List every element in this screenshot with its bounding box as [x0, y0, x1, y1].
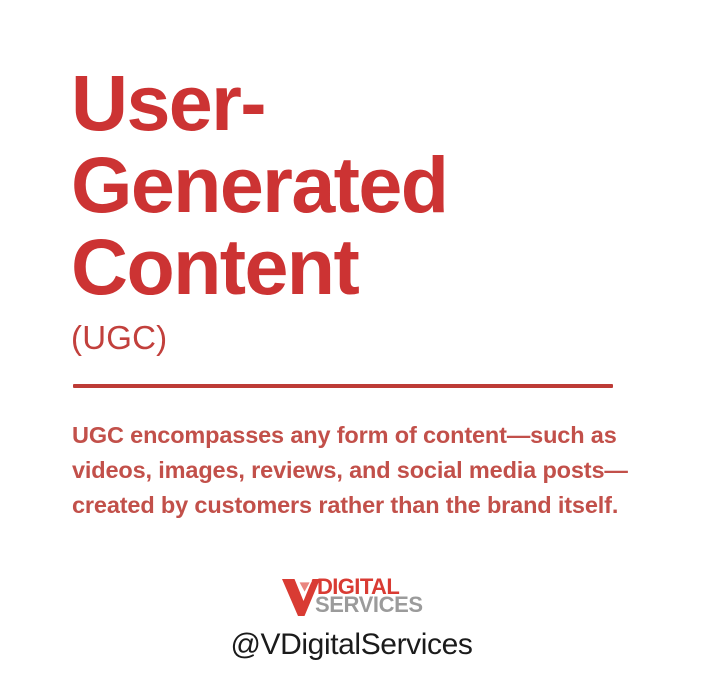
description-text: UGC encompasses any form of content—such… [72, 418, 632, 523]
description-line-3: created by customers rather than the bra… [72, 488, 632, 523]
title-line-2: Generated [71, 144, 671, 226]
logo-text-services: SERVICES [315, 594, 423, 616]
logo-wordmark: DIGITAL SERVICES [317, 576, 435, 618]
social-handle: @VDigitalServices [0, 626, 703, 664]
description-line-2: videos, images, reviews, and social medi… [72, 453, 632, 488]
brand-logo: DIGITAL SERVICES [281, 576, 433, 618]
divider-rule [73, 384, 613, 388]
abbreviation-label: (UGC) [71, 318, 167, 358]
title-line-1: User- [71, 62, 671, 144]
title-line-3: Content [71, 226, 671, 308]
page-title: User- Generated Content [71, 62, 671, 308]
ugc-definition-card: User- Generated Content (UGC) UGC encomp… [0, 0, 703, 700]
description-line-1: UGC encompasses any form of content—such… [72, 418, 632, 453]
